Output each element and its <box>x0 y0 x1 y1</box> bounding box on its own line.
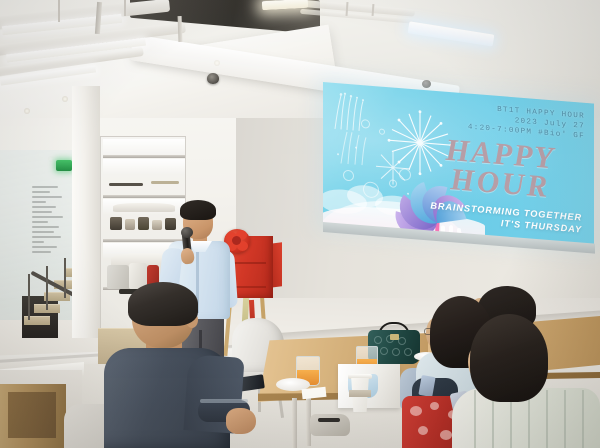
table-leg <box>292 398 297 448</box>
shelf-product <box>110 217 122 230</box>
hanging-rod-icon <box>124 0 126 16</box>
recessed-spotlight <box>24 108 30 114</box>
plaque-fold <box>232 262 266 264</box>
structural-column <box>72 86 100 338</box>
bubble-ring <box>379 128 385 134</box>
attendee-front-hair <box>470 314 548 402</box>
recessed-spotlight <box>214 60 220 66</box>
shelf-product <box>165 218 176 230</box>
cushion <box>107 265 129 289</box>
security-camera-dome-icon <box>207 73 219 84</box>
recessed-spotlight <box>62 96 68 102</box>
shelf-product <box>138 217 149 230</box>
shelf-product <box>125 219 135 230</box>
security-camera-dome-icon <box>422 80 431 88</box>
sparkle-dot <box>355 147 357 149</box>
shelf-product <box>109 183 143 186</box>
projection-screen[interactable]: BT1T HAPPY HOUR 2023 July 27 4:20-7:00PM… <box>323 82 594 247</box>
coffee-cup-sleeve <box>349 390 371 397</box>
presenter-hair <box>180 200 216 220</box>
wood-cabinet-recess <box>8 392 56 438</box>
shelf-product <box>151 181 179 184</box>
shoe-lace <box>318 418 340 422</box>
bubble-ring <box>389 179 397 188</box>
hanging-rod-icon <box>178 16 183 42</box>
bubble-ring <box>361 119 370 129</box>
attendee-left-hair <box>128 282 198 326</box>
tshirt-sleeve-trim <box>200 399 248 403</box>
plaque-fold <box>232 286 266 288</box>
shelf-product <box>152 220 162 230</box>
handbag-clasp <box>390 334 399 340</box>
sparkle-dot <box>337 153 339 155</box>
sparkle-dot <box>407 193 409 195</box>
shelf-product <box>113 203 175 212</box>
bubble-ring <box>343 170 354 182</box>
hanging-rod-icon <box>58 0 60 22</box>
attendee-left-hand <box>226 408 256 434</box>
photo-scene: BT1T HAPPY HOUR 2023 July 27 4:20-7:00PM… <box>0 0 600 448</box>
exit-sign-icon <box>56 160 72 171</box>
